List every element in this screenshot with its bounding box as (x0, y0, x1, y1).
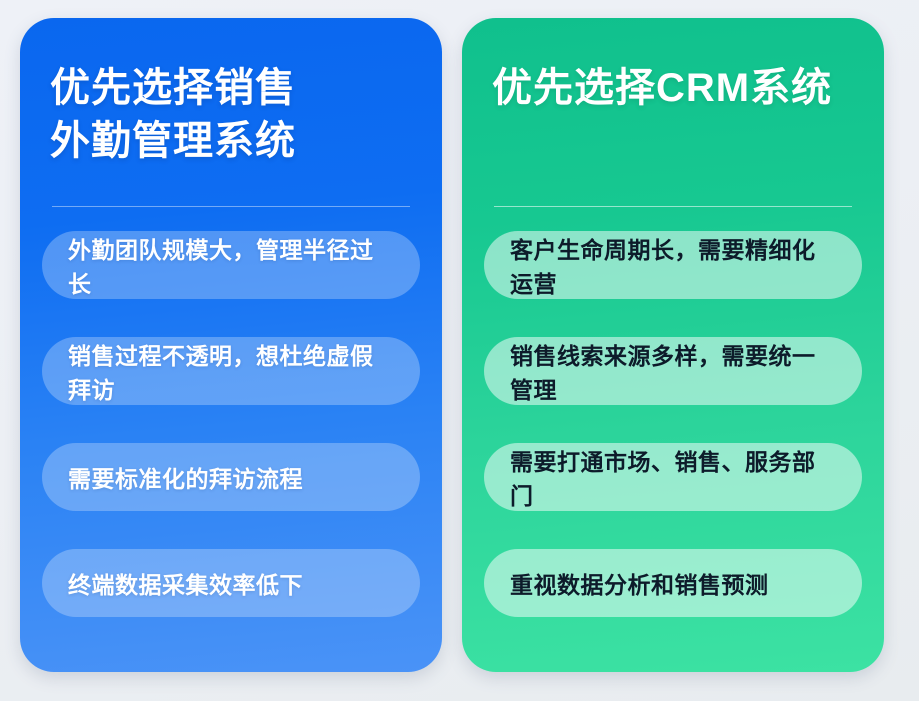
list-item: 客户生命周期长，需要精细化运营 (484, 231, 862, 299)
card-title-area: 优先选择CRM系统 (484, 62, 862, 188)
pill-list-crm-system: 客户生命周期长，需要精细化运营 销售线索来源多样，需要统一管理 需要打通市场、销… (484, 207, 862, 617)
pill-list-sales-field-management: 外勤团队规模大，管理半径过长 销售过程不透明，想杜绝虚假拜访 需要标准化的拜访流… (42, 207, 420, 617)
card-row: 优先选择销售外勤管理系统 外勤团队规模大，管理半径过长 销售过程不透明，想杜绝虚… (20, 18, 884, 672)
list-item: 销售过程不透明，想杜绝虚假拜访 (42, 337, 420, 405)
card-title-crm-system: 优先选择CRM系统 (484, 62, 862, 115)
comparison-graphic: 优先选择销售外勤管理系统 外勤团队规模大，管理半径过长 销售过程不透明，想杜绝虚… (0, 0, 919, 701)
card-sales-field-management: 优先选择销售外勤管理系统 外勤团队规模大，管理半径过长 销售过程不透明，想杜绝虚… (20, 18, 442, 672)
card-title-area: 优先选择销售外勤管理系统 (42, 62, 420, 188)
list-item: 需要打通市场、销售、服务部门 (484, 443, 862, 511)
card-title-line-1: 优先选择销售 (50, 66, 296, 110)
list-item: 终端数据采集效率低下 (42, 549, 420, 617)
list-item: 外勤团队规模大，管理半径过长 (42, 231, 420, 299)
card-title-line-2: 外勤管理系统 (50, 119, 296, 163)
list-item: 重视数据分析和销售预测 (484, 549, 862, 617)
list-item: 销售线索来源多样，需要统一管理 (484, 337, 862, 405)
card-title-sales-field-management: 优先选择销售外勤管理系统 (42, 62, 420, 168)
list-item: 需要标准化的拜访流程 (42, 443, 420, 511)
card-crm-system: 优先选择CRM系统 客户生命周期长，需要精细化运营 销售线索来源多样，需要统一管… (462, 18, 884, 672)
